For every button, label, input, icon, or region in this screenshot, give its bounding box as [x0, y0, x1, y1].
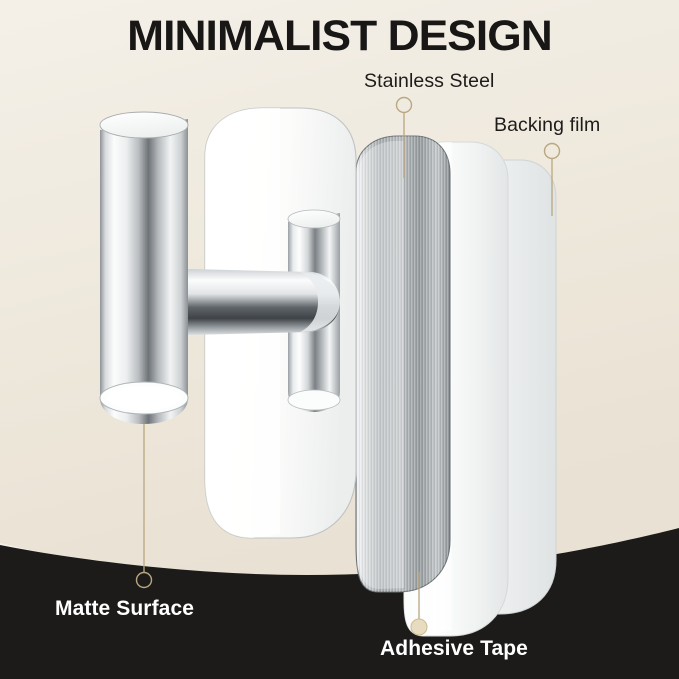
label-matte-surface: Matte Surface	[55, 597, 194, 621]
label-stainless-steel: Stainless Steel	[364, 70, 495, 93]
label-backing-film: Backing film	[494, 114, 600, 137]
hook-left-post	[100, 112, 188, 424]
infographic-canvas: MINIMALIST DESIGN Stainless Steel Backin…	[0, 0, 679, 679]
page-title: MINIMALIST DESIGN	[0, 14, 679, 59]
product-illustration	[0, 0, 679, 679]
layer-stainless-steel	[356, 136, 450, 592]
label-adhesive-tape: Adhesive Tape	[380, 637, 528, 661]
